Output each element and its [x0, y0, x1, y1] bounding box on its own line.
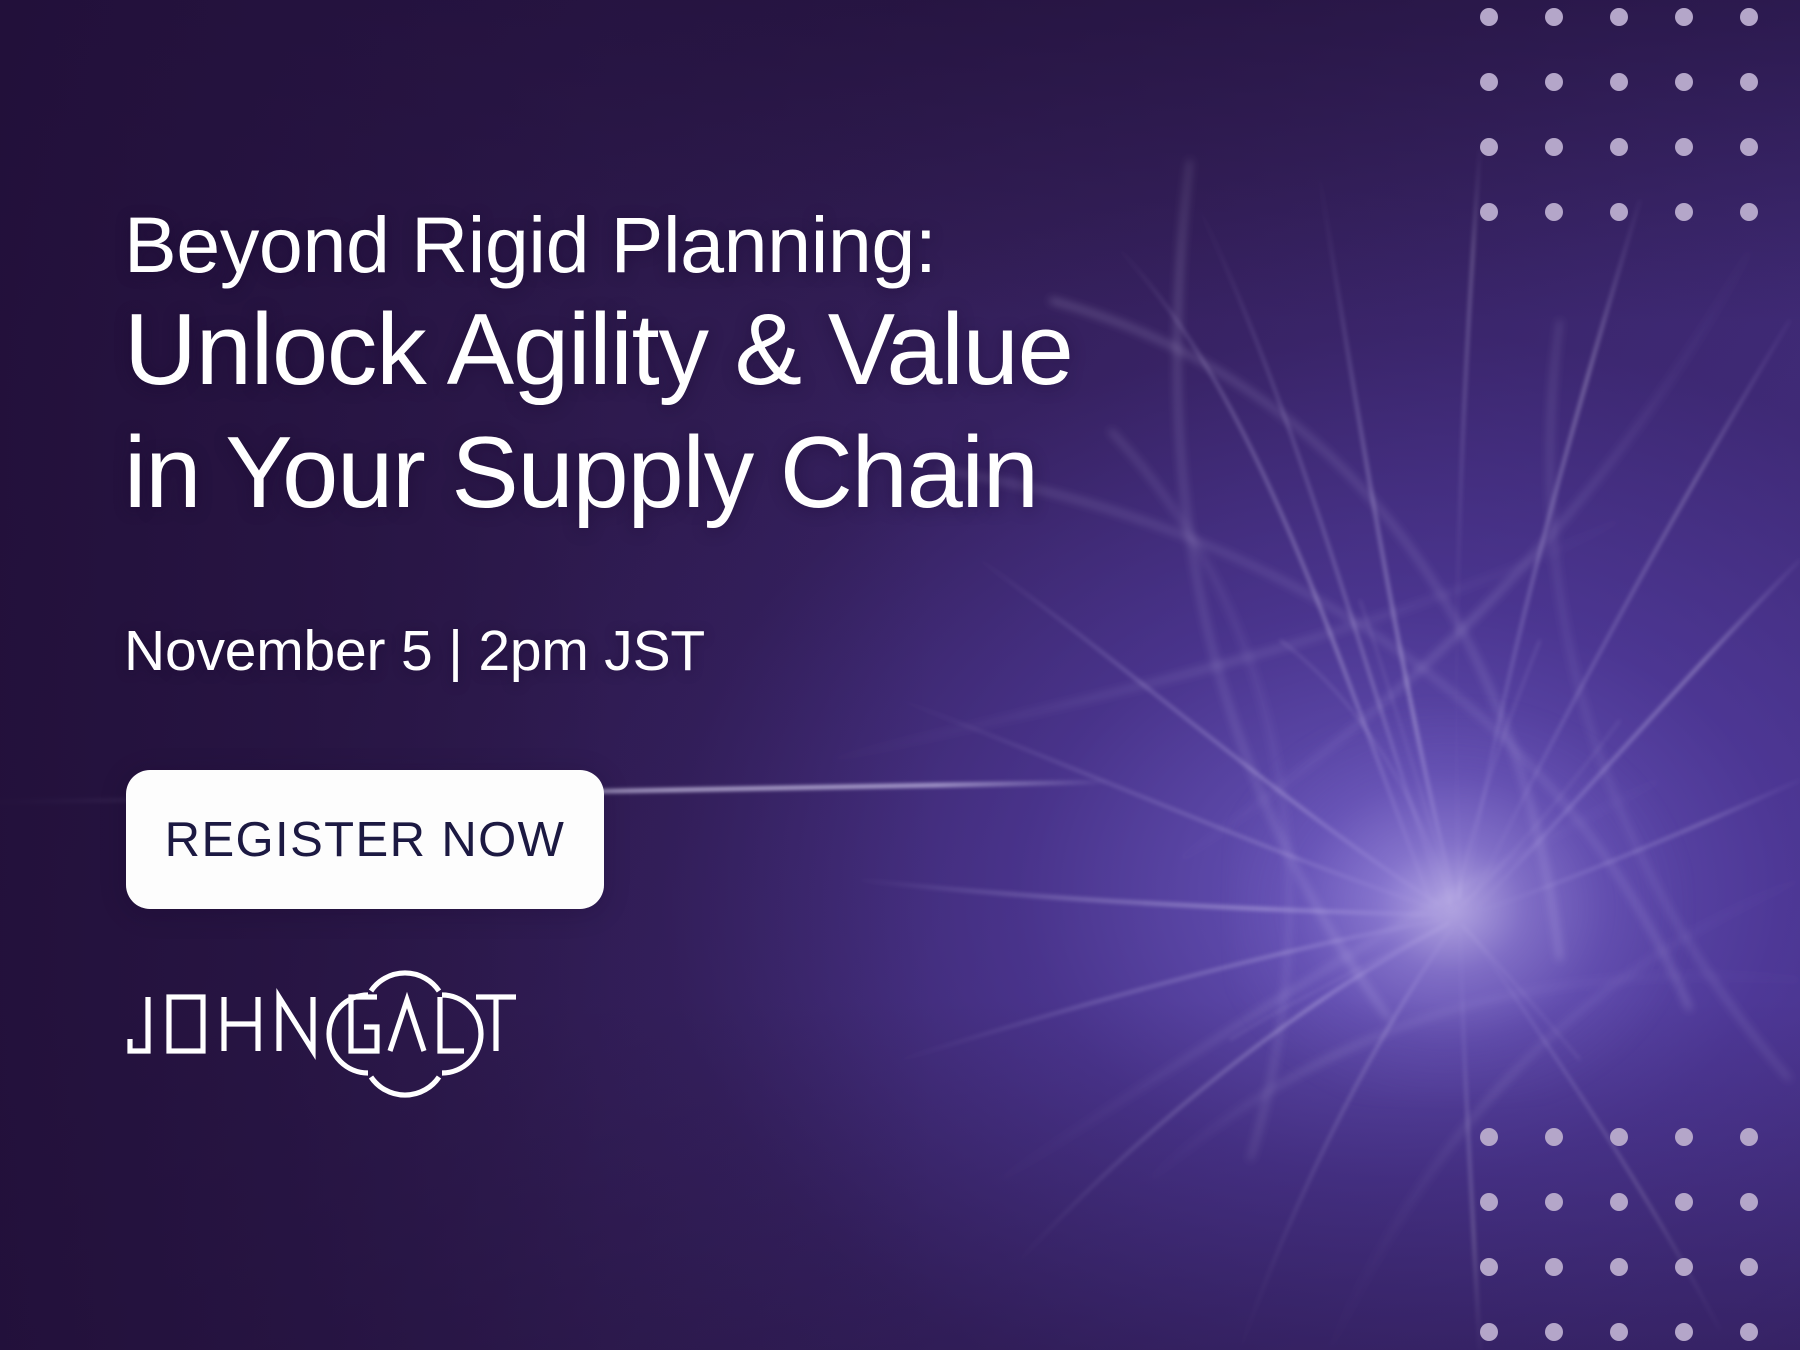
dot	[1545, 138, 1563, 156]
dot	[1545, 8, 1563, 26]
banner-content: Beyond Rigid Planning: Unlock Agility & …	[124, 0, 1464, 1350]
headline-line-2: in Your Supply Chain	[124, 409, 1073, 538]
dot	[1740, 73, 1758, 91]
dot	[1480, 138, 1498, 156]
dot	[1610, 138, 1628, 156]
john-galt-logo[interactable]	[124, 955, 524, 1100]
dot	[1610, 1128, 1628, 1146]
dot	[1480, 203, 1498, 221]
event-datetime: November 5 | 2pm JST	[124, 618, 705, 684]
dot	[1545, 203, 1563, 221]
dot	[1545, 73, 1563, 91]
dot	[1740, 8, 1758, 26]
dot	[1675, 203, 1693, 221]
dot	[1675, 1258, 1693, 1276]
dot	[1740, 1193, 1758, 1211]
dot	[1545, 1323, 1563, 1341]
dot	[1480, 1323, 1498, 1341]
headline-line-1: Unlock Agility & Value	[124, 286, 1073, 415]
dot	[1675, 138, 1693, 156]
headline-main: Unlock Agility & Value in Your Supply Ch…	[124, 286, 1073, 539]
dot	[1545, 1258, 1563, 1276]
dot-grid-bottom-right	[1480, 1128, 1758, 1341]
dot	[1610, 73, 1628, 91]
dot	[1675, 1323, 1693, 1341]
dot	[1480, 1193, 1498, 1211]
dot	[1610, 8, 1628, 26]
register-now-button[interactable]: REGISTER NOW	[126, 770, 604, 909]
dot	[1610, 1193, 1628, 1211]
dot	[1610, 1323, 1628, 1341]
dot-grid-top-right	[1480, 8, 1758, 221]
dot	[1740, 138, 1758, 156]
dot	[1480, 73, 1498, 91]
dot	[1740, 1128, 1758, 1146]
dot	[1675, 1193, 1693, 1211]
dot	[1610, 203, 1628, 221]
dot	[1480, 8, 1498, 26]
dot	[1545, 1193, 1563, 1211]
dot	[1675, 73, 1693, 91]
dot	[1610, 1258, 1628, 1276]
dot	[1740, 1258, 1758, 1276]
dot	[1480, 1258, 1498, 1276]
headline-block: Beyond Rigid Planning: Unlock Agility & …	[124, 205, 1073, 539]
john-galt-logo-mark	[124, 955, 524, 1100]
dot	[1675, 8, 1693, 26]
dot	[1740, 1323, 1758, 1341]
dot	[1675, 1128, 1693, 1146]
dot	[1545, 1128, 1563, 1146]
headline-kicker: Beyond Rigid Planning:	[124, 205, 1073, 284]
dot	[1480, 1128, 1498, 1146]
dot	[1740, 203, 1758, 221]
webinar-promo-banner: Beyond Rigid Planning: Unlock Agility & …	[0, 0, 1800, 1350]
